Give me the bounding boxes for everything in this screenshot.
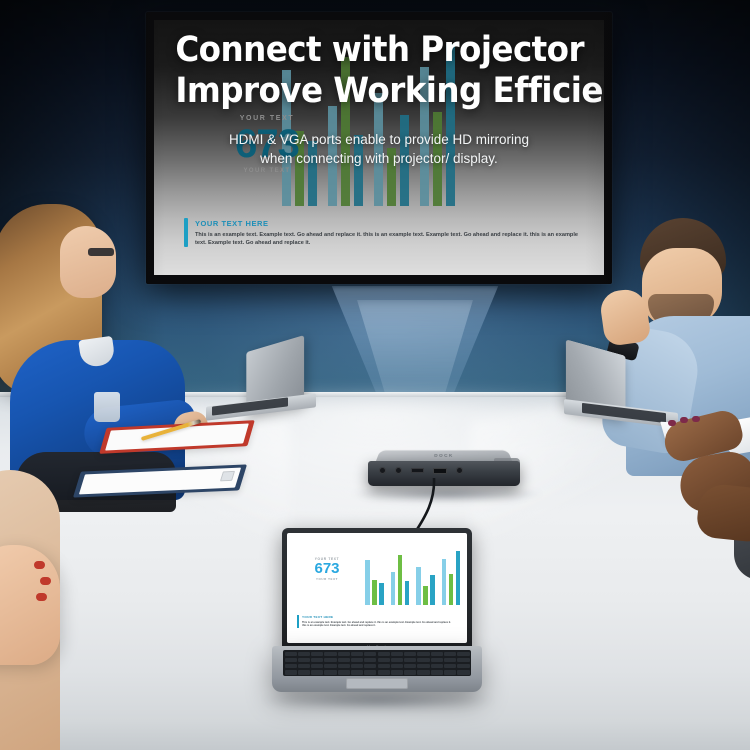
keyboard-key[interactable]: [311, 664, 323, 669]
chart-bar: [423, 586, 428, 605]
laptop-lid: YOUR TEXT 673 YOUR TEXT YOUR TEXT HERE T…: [282, 528, 472, 648]
keyboard-key[interactable]: [457, 658, 469, 663]
keyboard-key[interactable]: [324, 670, 336, 675]
chart-bar: [372, 580, 377, 605]
keyboard-key[interactable]: [457, 670, 469, 675]
keyboard-key[interactable]: [417, 664, 429, 669]
fingernail: [692, 416, 700, 422]
keyboard-key[interactable]: [431, 652, 443, 657]
accent-bar: [297, 615, 299, 628]
keyboard-key[interactable]: [457, 652, 469, 657]
keyboard-key[interactable]: [285, 670, 297, 675]
bar-group: [442, 551, 461, 605]
bar-group: [365, 551, 384, 605]
keyboard-key[interactable]: [391, 658, 403, 663]
headline-line-1: Connect with Projector: [175, 30, 582, 71]
keyboard-key[interactable]: [364, 658, 376, 663]
headline: Connect with Projector Improve Working E…: [154, 30, 604, 112]
keyboard-key[interactable]: [324, 664, 336, 669]
keyboard-key[interactable]: [431, 670, 443, 675]
keyboard-key[interactable]: [311, 652, 323, 657]
keyboard-key[interactable]: [431, 664, 443, 669]
keyboard-key[interactable]: [444, 658, 456, 663]
port-mic-icon[interactable]: [395, 467, 402, 474]
keyboard-key[interactable]: [378, 658, 390, 663]
keyboard-key[interactable]: [391, 670, 403, 675]
woman-face: [60, 226, 116, 298]
keyboard-key[interactable]: [417, 658, 429, 663]
keyboard-key[interactable]: [324, 658, 336, 663]
chart-bar: [416, 567, 421, 605]
keyboard-key[interactable]: [285, 664, 297, 669]
fingernail: [34, 561, 45, 569]
keyboard-key[interactable]: [404, 652, 416, 657]
projected-text-title: YOUR TEXT HERE: [195, 218, 578, 229]
laptop-text-body: This is an example text. Example text. G…: [302, 621, 455, 628]
laptop-screen: YOUR TEXT 673 YOUR TEXT YOUR TEXT HERE T…: [287, 533, 467, 643]
keyboard-key[interactable]: [324, 652, 336, 657]
subheadline-line-1: HDMI & VGA ports enable to provide HD mi…: [194, 130, 564, 149]
keyboard-key[interactable]: [311, 658, 323, 663]
keyboard-key[interactable]: [457, 664, 469, 669]
hub-brand-logo: DOCK: [434, 454, 454, 458]
keyboard-key[interactable]: [351, 658, 363, 663]
keyboard-key[interactable]: [444, 670, 456, 675]
laptop-stat-label-bottom: YOUR TEXT: [297, 577, 357, 581]
subheadline: HDMI & VGA ports enable to provide HD mi…: [154, 130, 604, 168]
projection-screen-frame: YOUR TEXT 673 YOUR TEXT YOUR TEXT HERE T…: [146, 12, 612, 284]
chart-bar: [456, 551, 461, 605]
keyboard-key[interactable]: [364, 670, 376, 675]
chart-bar: [365, 560, 370, 605]
keyboard-key[interactable]: [378, 670, 390, 675]
projection-screen: YOUR TEXT 673 YOUR TEXT YOUR TEXT HERE T…: [154, 20, 604, 275]
keyboard-key[interactable]: [431, 658, 443, 663]
keyboard-key[interactable]: [298, 652, 310, 657]
chart-bar: [449, 574, 454, 605]
person-foreground-left-hand: [0, 545, 92, 665]
keyboard-key[interactable]: [444, 664, 456, 669]
port-power-icon[interactable]: [456, 467, 463, 474]
fingernail: [680, 417, 688, 423]
port-hdmi-icon[interactable]: [433, 468, 447, 474]
port-usb-icon[interactable]: [411, 468, 424, 473]
chart-bar: [430, 575, 435, 605]
keyboard-key[interactable]: [351, 670, 363, 675]
projected-text-block: YOUR TEXT HERE This is an example text. …: [184, 218, 578, 247]
keyboard-key[interactable]: [298, 670, 310, 675]
keyboard-key[interactable]: [364, 664, 376, 669]
keyboard-key[interactable]: [404, 670, 416, 675]
chart-bar: [442, 559, 447, 605]
keyboard-key[interactable]: [404, 664, 416, 669]
keyboard-key[interactable]: [417, 652, 429, 657]
keyboard-key[interactable]: [391, 652, 403, 657]
keyboard-key[interactable]: [285, 652, 297, 657]
laptop-bar-chart: [365, 551, 460, 605]
keyboard-key[interactable]: [338, 658, 350, 663]
clipboard-paper: [79, 468, 241, 495]
keyboard-key[interactable]: [338, 670, 350, 675]
laptop-keyboard[interactable]: [283, 650, 471, 676]
laptop-text-block: YOUR TEXT HERE This is an example text. …: [297, 615, 455, 628]
laptop-trackpad[interactable]: [346, 678, 408, 689]
chart-bar: [398, 555, 403, 605]
chart-bar: [379, 583, 384, 605]
forearm: [0, 545, 60, 665]
keyboard-key[interactable]: [391, 664, 403, 669]
bar-group: [391, 551, 410, 605]
laptop-stat-block: YOUR TEXT 673 YOUR TEXT: [297, 557, 357, 581]
headline-line-2: Improve Working Efficiency: [175, 71, 582, 112]
product-marketing-image: YOUR TEXT 673 YOUR TEXT YOUR TEXT HERE T…: [0, 0, 750, 750]
fingernail: [668, 420, 676, 426]
glasses-icon: [88, 248, 114, 256]
chart-bar: [405, 581, 410, 605]
keyboard-key[interactable]: [338, 652, 350, 657]
keyboard-key[interactable]: [404, 658, 416, 663]
subheadline-line-2: when connecting with projector/ display.: [194, 149, 564, 168]
keyboard-key[interactable]: [311, 670, 323, 675]
fingernail: [40, 577, 51, 585]
chart-bar: [391, 572, 396, 605]
keyboard-key[interactable]: [338, 664, 350, 669]
hub-port-row: [379, 467, 463, 474]
projected-text-body: This is an example text. Example text. G…: [195, 231, 578, 248]
keyboard-key[interactable]: [285, 658, 297, 663]
keyboard-key[interactable]: [351, 652, 363, 657]
keyboard-key[interactable]: [444, 652, 456, 657]
laptop-text-title: YOUR TEXT HERE: [302, 615, 455, 620]
laptop-base: [272, 646, 482, 692]
laptop-background-left: [206, 344, 324, 416]
keyboard-key[interactable]: [417, 670, 429, 675]
keyboard-key[interactable]: [378, 664, 390, 669]
keyboard-key[interactable]: [298, 664, 310, 669]
keyboard-key[interactable]: [351, 664, 363, 669]
keyboard-key[interactable]: [298, 658, 310, 663]
keyboard-key[interactable]: [378, 652, 390, 657]
person-foreground-right-clasped-hands: [672, 432, 750, 552]
cup: [94, 392, 120, 422]
keyboard-key[interactable]: [364, 652, 376, 657]
bar-group: [416, 551, 435, 605]
foreground-laptop: YOUR TEXT 673 YOUR TEXT YOUR TEXT HERE T…: [272, 528, 482, 698]
port-audio-icon[interactable]: [379, 467, 386, 474]
laptop-stat-value: 673: [297, 561, 357, 577]
docking-station: DOCK: [368, 444, 520, 492]
fingernail: [36, 593, 47, 601]
